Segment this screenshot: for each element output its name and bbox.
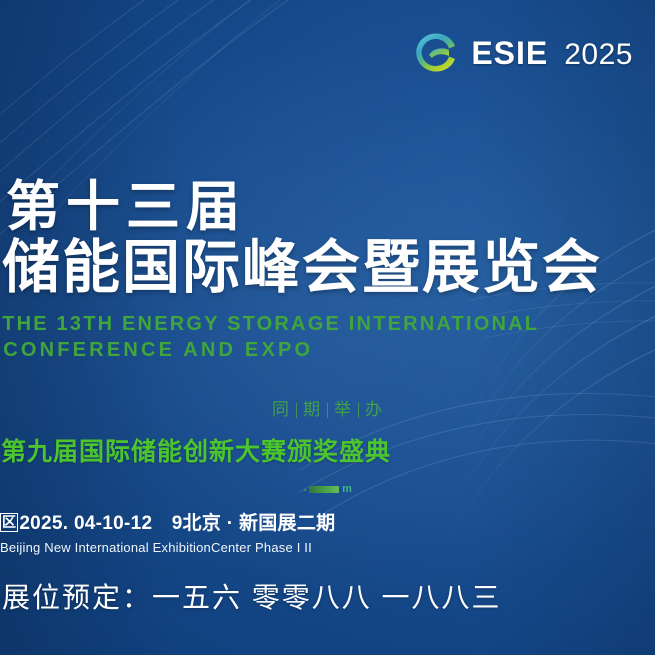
concurrent-separator: [296, 403, 297, 418]
concurrent-char-3: 办: [359, 399, 389, 421]
title-english: THE 13TH ENERGY STORAGE INTERNATIONAL CO…: [0, 311, 655, 363]
green-divider-ornament: m: [0, 484, 655, 495]
venue-date-chinese: 区2025. 04-10-12 9北京 · 新国展二期: [0, 512, 655, 536]
venue-prefix-box: 区: [0, 513, 18, 532]
concurrent-char-0: 同: [266, 399, 296, 421]
brand-lockup: ESIE 2025: [412, 28, 633, 78]
concurrent-label: 同 期 举 办: [0, 399, 655, 421]
divider-tail-glyph: m: [342, 484, 351, 495]
event-poster: ESIE 2025 第十三届 储能国际峰会暨展览会 THE 13TH ENERG…: [0, 0, 655, 655]
venue-block: 区2025. 04-10-12 9北京 · 新国展二期 Beijing New …: [0, 512, 655, 556]
brand-name: ESIE: [471, 35, 548, 72]
booking-contact-line: 展位预定：一五六 零零八八 一八八三: [0, 580, 655, 616]
concurrent-separator: [358, 403, 359, 418]
concurrent-char-2: 举: [328, 399, 358, 421]
title-chinese-line2: 储能国际峰会暨展览会: [0, 236, 655, 300]
brand-text: ESIE 2025: [471, 35, 633, 72]
title-chinese-line1: 第十三届: [0, 178, 655, 236]
esie-swirl-logo-icon: [412, 28, 462, 78]
divider-bar: [309, 486, 339, 493]
venue-english: Beijing New International ExhibitionCent…: [0, 539, 655, 556]
title-english-line2: CONFERENCE AND EXPO: [0, 337, 655, 363]
divider-dot: [304, 489, 306, 491]
venue-date-text: 2025. 04-10-12 9北京 · 新国展二期: [19, 513, 335, 534]
award-ceremony-title: 第九届国际储能创新大赛颁奖盛典: [0, 437, 655, 467]
concurrent-separator: [327, 403, 328, 418]
title-english-line1: THE 13TH ENERGY STORAGE INTERNATIONAL: [2, 313, 539, 335]
brand-year: 2025: [564, 38, 633, 72]
concurrent-char-1: 期: [297, 399, 327, 421]
